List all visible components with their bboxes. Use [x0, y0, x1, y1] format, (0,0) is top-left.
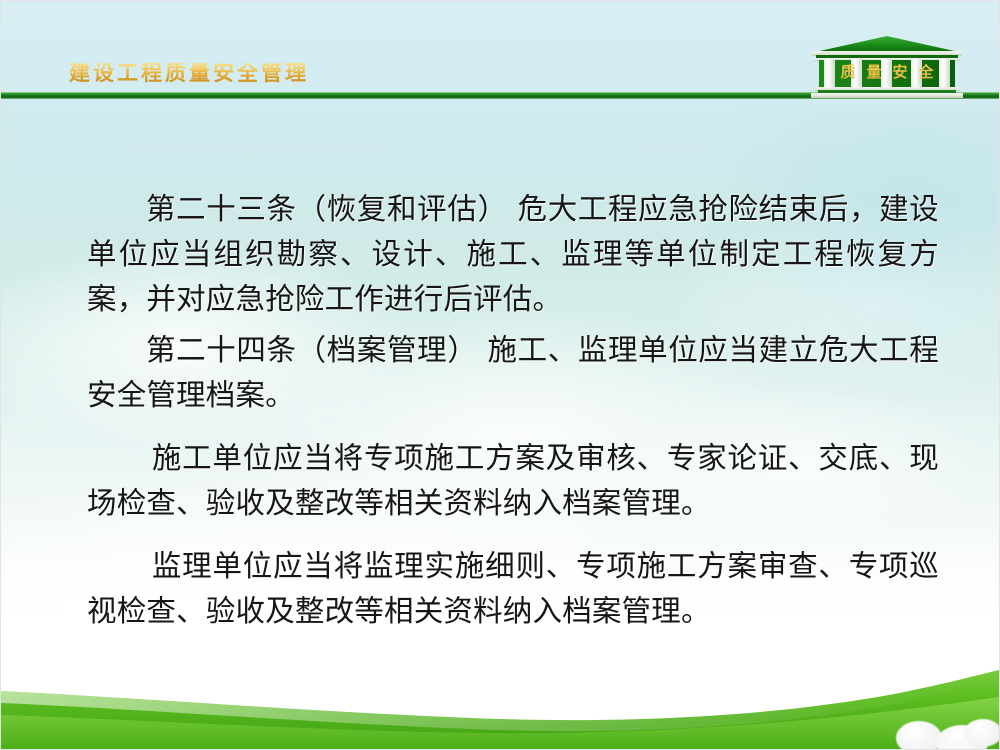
grass-hills-decoration	[1, 619, 999, 749]
slide-body: 第二十三条（恢复和评估） 危大工程应急抢险结束后，建设单位应当组织勘察、设计、施…	[87, 187, 939, 634]
paragraph-article-24: 第二十四条（档案管理） 施工、监理单位应当建立危大工程安全管理档案。	[87, 328, 939, 418]
quality-safety-temple-logo: 质量安全	[807, 35, 967, 101]
presentation-slide: 建设工程质量安全管理	[0, 0, 1000, 750]
paragraph-article-23: 第二十三条（恢复和评估） 危大工程应急抢险结束后，建设单位应当组织勘察、设计、施…	[87, 187, 939, 322]
paragraph-article-24-clause-2: 监理单位应当将监理实施细则、专项施工方案审查、专项巡视检查、验收及整改等相关资料…	[87, 544, 939, 634]
sheep-decoration	[964, 719, 1000, 747]
sheep-decoration	[896, 721, 942, 750]
slide-header: 建设工程质量安全管理	[1, 1, 1000, 109]
paragraph-article-24-clause-1: 施工单位应当将专项施工方案及审核、专家论证、交底、现场检查、验收及整改等相关资料…	[87, 436, 939, 526]
page-title: 建设工程质量安全管理	[69, 63, 309, 84]
